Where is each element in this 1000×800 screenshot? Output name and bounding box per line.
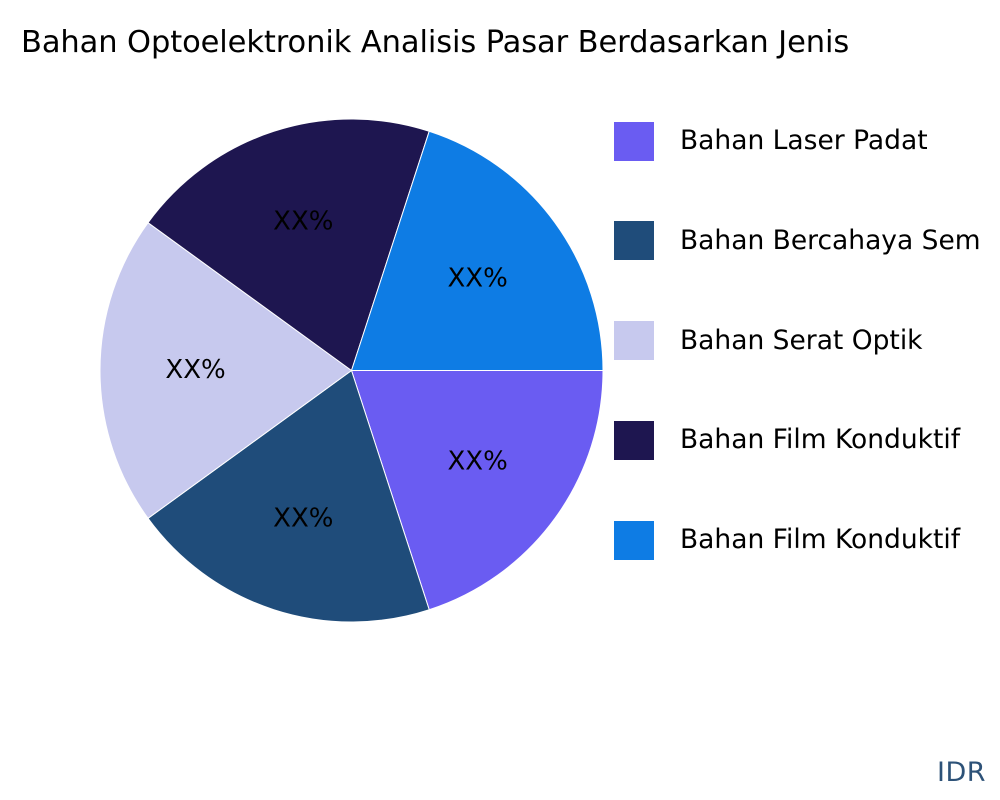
legend-item[interactable]: Bahan Film Konduktif xyxy=(614,420,960,460)
legend-item[interactable]: Bahan Bercahaya Sem xyxy=(614,221,981,261)
pie-slice-label: XX% xyxy=(447,447,507,477)
legend-item[interactable]: Bahan Film Konduktif xyxy=(614,520,960,560)
pie-slice-label: XX% xyxy=(165,355,225,385)
pie-slice-label: XX% xyxy=(447,263,507,293)
pie-chart-figure: Bahan Optoelektronik Analisis Pasar Berd… xyxy=(0,0,1000,800)
legend-item-label: Bahan Laser Padat xyxy=(680,125,928,157)
legend-color-swatch xyxy=(614,221,654,260)
legend-item-label: Bahan Film Konduktif xyxy=(680,424,960,456)
legend-color-swatch xyxy=(614,521,654,560)
pie-plot-area: XX%XX%XX%XX%XX% xyxy=(100,119,603,622)
legend-item-label: Bahan Serat Optik xyxy=(680,325,923,357)
legend-item[interactable]: Bahan Serat Optik xyxy=(614,321,923,361)
legend-color-swatch xyxy=(614,321,654,360)
chart-legend: Bahan Laser PadatBahan Bercahaya SemBaha… xyxy=(614,110,1000,570)
legend-color-swatch xyxy=(614,421,654,460)
legend-item[interactable]: Bahan Laser Padat xyxy=(614,121,928,161)
legend-item-label: Bahan Film Konduktif xyxy=(680,524,960,556)
pie-slice-label: XX% xyxy=(273,207,333,237)
legend-color-swatch xyxy=(614,122,654,161)
pie-slice-label: XX% xyxy=(273,503,333,533)
chart-title: Bahan Optoelektronik Analisis Pasar Berd… xyxy=(21,24,1000,62)
pie-svg: XX%XX%XX%XX%XX% xyxy=(100,119,603,622)
legend-item-label: Bahan Bercahaya Sem xyxy=(680,225,981,257)
currency-note: IDR xyxy=(937,757,986,788)
